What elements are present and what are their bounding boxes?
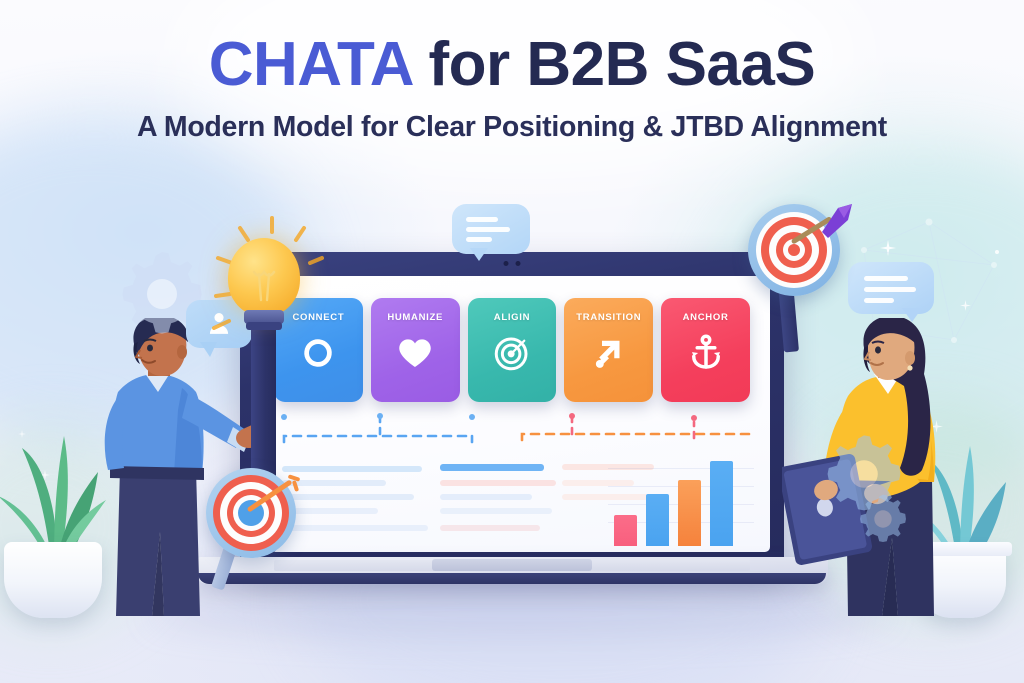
card-humanize[interactable]: HUMANIZE [371, 298, 460, 402]
target-arrow-bottom-left [202, 468, 308, 588]
laptop-screen: CONNECT HUMANIZE [254, 276, 770, 552]
bar-chart [608, 454, 754, 546]
trackpad [432, 559, 592, 571]
title-rest: for B2B SaaS [412, 30, 816, 99]
page-subtitle: A Modern Model for Clear Positioning & J… [0, 111, 1024, 144]
doc-line-highlight [440, 464, 544, 471]
card-anchor[interactable]: ANCHOR [661, 298, 750, 402]
bubble-right-person [848, 262, 934, 330]
target-icon [491, 332, 533, 374]
doc-line [440, 480, 556, 486]
chart-bar [710, 461, 733, 546]
card-label: ALIGIN [494, 312, 530, 323]
chart-bars [614, 454, 754, 546]
screen-content-lower [254, 412, 770, 552]
anchor-icon [685, 332, 727, 374]
card-aligin[interactable]: ALIGIN [468, 298, 557, 402]
card-transition[interactable]: TRANSITION [564, 298, 653, 402]
chart-bar [678, 480, 701, 546]
card-label: HUMANIZE [387, 312, 443, 323]
gear-right-small-icon [854, 490, 912, 548]
dart-flight-icon [818, 202, 856, 242]
chart-bar [614, 515, 637, 546]
bubble-top-center [452, 204, 530, 268]
page-title: CHATA for B2B SaaS [0, 32, 1024, 98]
connector-lines [254, 412, 770, 460]
title-brand: CHATA [209, 30, 412, 99]
arrow-growth-icon [588, 332, 630, 374]
header: CHATA for B2B SaaS A Modern Model for Cl… [0, 0, 1024, 186]
target-dart-top-right [748, 204, 852, 316]
doc-line [440, 494, 532, 500]
doc-line [440, 525, 540, 531]
card-label: ANCHOR [683, 312, 729, 323]
heart-icon [394, 332, 436, 374]
framework-cards: CONNECT HUMANIZE [274, 298, 750, 402]
illustration-canvas: CHATA for B2B SaaS A Modern Model for Cl… [0, 0, 1024, 683]
card-label: TRANSITION [576, 312, 641, 323]
doc-line [440, 508, 552, 514]
chart-bar [646, 494, 669, 546]
